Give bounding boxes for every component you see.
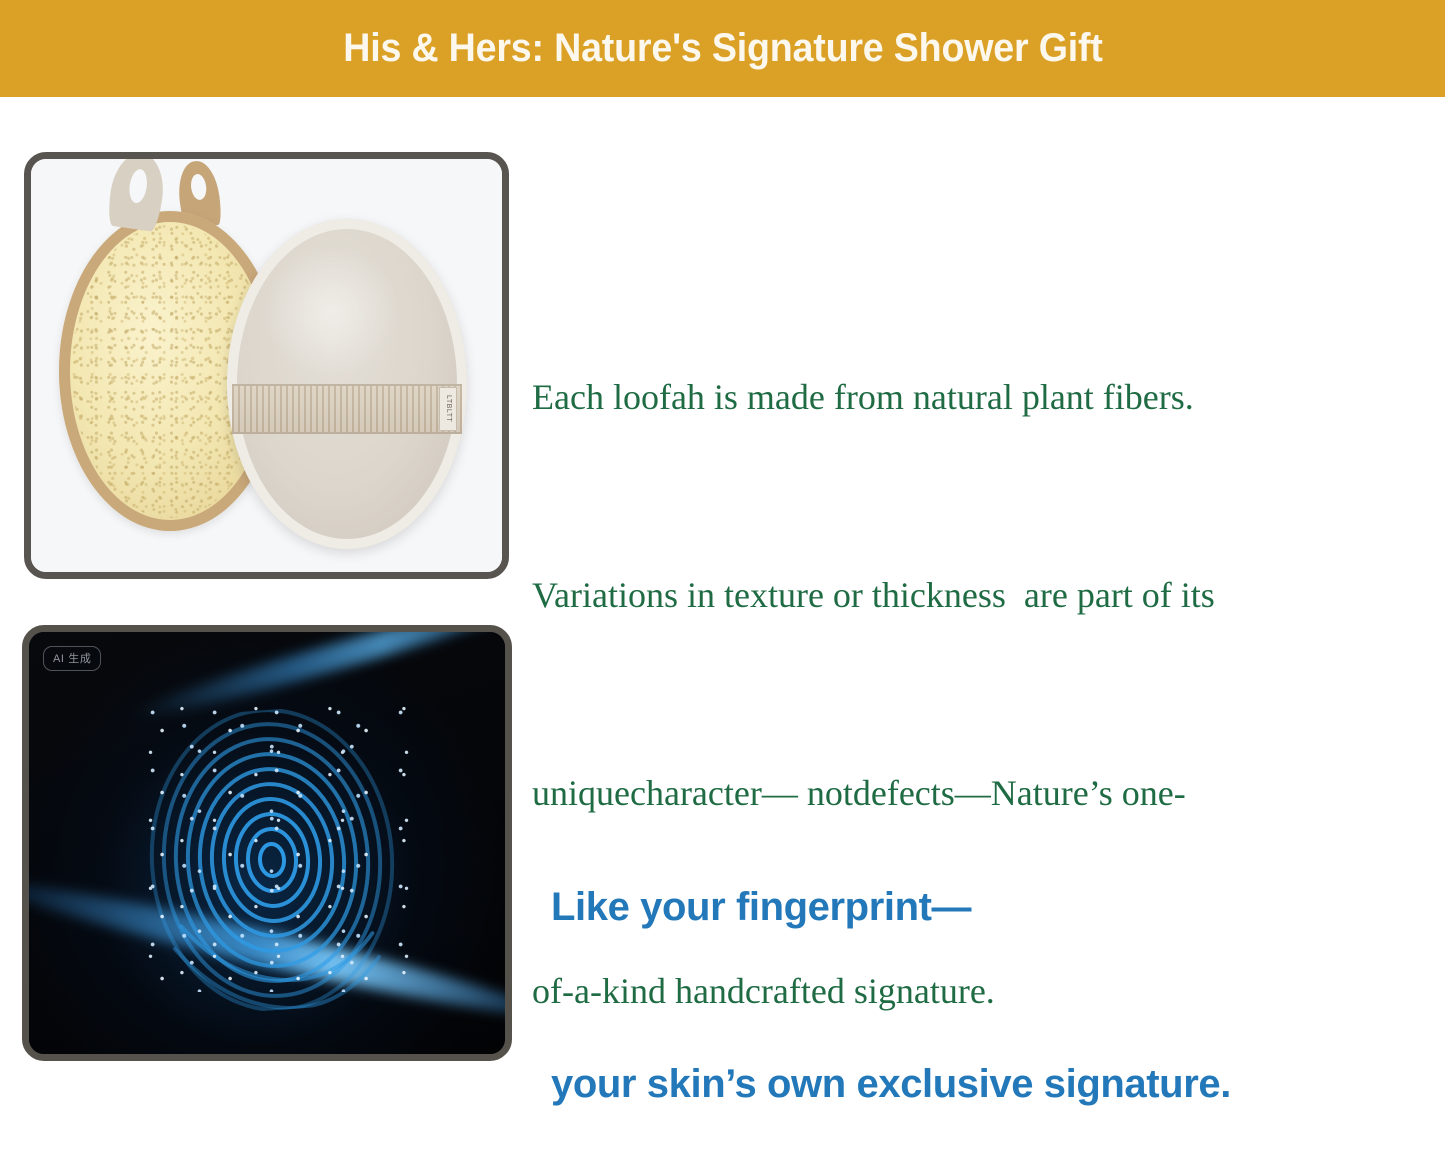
fingerprint-tagline-text: Like your fingerprint— your skin’s own e… — [551, 760, 1411, 1173]
blue-line-1: Like your fingerprint— — [551, 878, 1411, 937]
loofah-brand-tag: LTBLTT — [439, 387, 457, 431]
loofah-pad-gray: LTBLTT — [227, 219, 467, 549]
page-title: His & Hers: Nature's Signature Shower Gi… — [343, 26, 1102, 71]
fingerprint-image: AI 生成 — [22, 625, 512, 1061]
loofah-hand-strap — [232, 384, 462, 434]
fingerprint-image-canvas: AI 生成 — [29, 632, 505, 1054]
header-banner: His & Hers: Nature's Signature Shower Gi… — [0, 0, 1445, 97]
ai-generated-watermark-badge: AI 生成 — [43, 646, 101, 671]
fingerprint-ridges-icon — [137, 702, 407, 1019]
green-line-1: Each loofah is made from natural plant f… — [532, 364, 1432, 430]
loofah-pad-highlight — [261, 245, 400, 377]
loofah-image-canvas: LTBLTT — [31, 159, 502, 572]
loofah-product-image: LTBLTT — [24, 152, 509, 579]
green-line-2: Variations in texture or thickness are p… — [532, 562, 1432, 628]
